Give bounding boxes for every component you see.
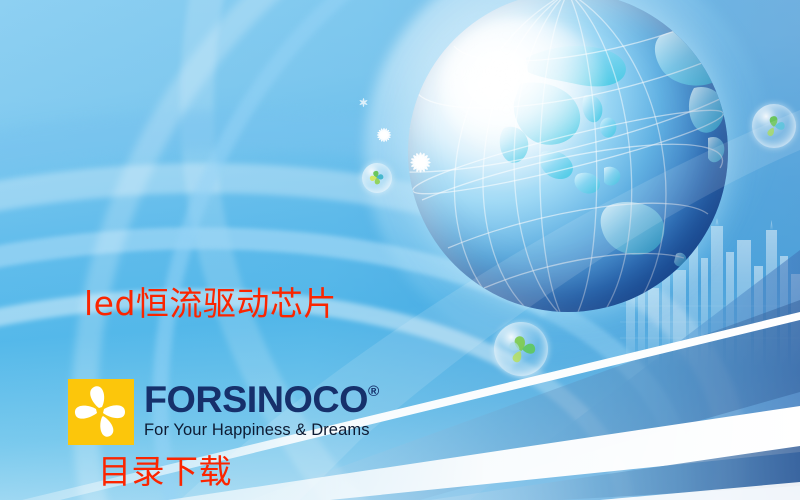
registered-trademark-icon: ®	[368, 384, 379, 399]
company-logo[interactable]: FORSINOCO ® For Your Happiness & Dreams	[68, 379, 374, 445]
headline-line-2: 目录下载	[98, 444, 337, 500]
logo-wordmark-text: FORSINOCO	[144, 381, 368, 419]
promo-banner: led恒流驱动芯片 目录下载 FORSINOCO ® For Your Happ…	[0, 0, 800, 500]
four-petal-pinwheel-icon	[68, 379, 134, 445]
logo-text-block: FORSINOCO ® For Your Happiness & Dreams	[144, 379, 374, 440]
logo-wordmark: FORSINOCO ®	[144, 381, 379, 419]
headline-text: led恒流驱动芯片 目录下载	[84, 164, 337, 500]
headline-line-1: led恒流驱动芯片	[84, 276, 337, 332]
logo-tagline: For Your Happiness & Dreams	[144, 421, 374, 440]
